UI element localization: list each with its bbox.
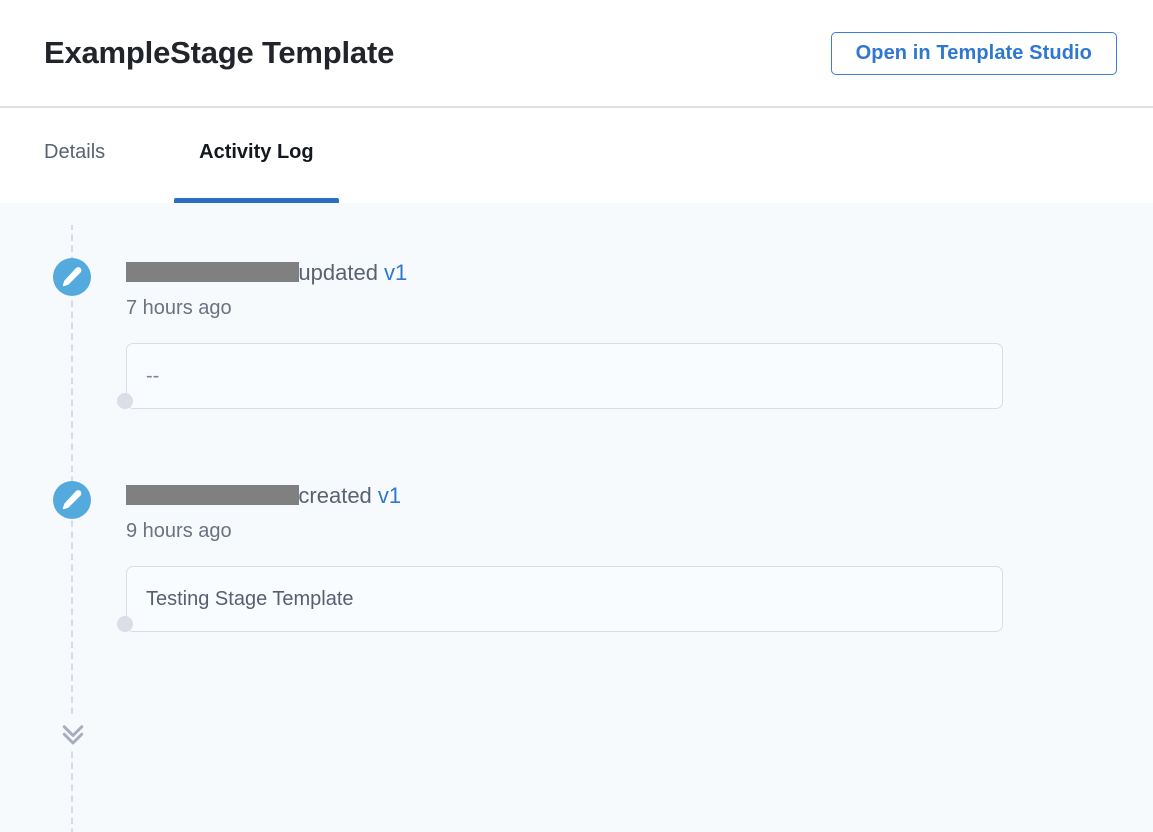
tab-details[interactable]: Details: [44, 108, 130, 203]
activity-entry-line: Rachael Rashmii created v1: [126, 481, 401, 511]
actor-link[interactable]: Rachael Rashmi: [126, 483, 287, 508]
tab-bar: Details Activity Log: [0, 108, 1153, 203]
open-in-template-studio-label: Open in Template Studio: [856, 42, 1092, 65]
pencil-edit-icon: [53, 258, 91, 296]
activity-entry: Rachael Rashmii created v1 9 hours ago T…: [53, 481, 1153, 642]
activity-comment-wrap: --: [126, 343, 1153, 419]
timeline-node-dot: [117, 393, 133, 409]
open-in-template-studio-button[interactable]: Open in Template Studio: [831, 32, 1117, 75]
activity-log-panel: Rachael Rashmii updated v1 7 hours ago -…: [0, 203, 1153, 832]
activity-comment-box[interactable]: --: [126, 343, 1003, 409]
pencil-edit-icon: [53, 481, 91, 519]
version-link[interactable]: v1: [384, 260, 407, 285]
tab-activity-log[interactable]: Activity Log: [174, 108, 338, 203]
activity-entry-text: Rachael Rashmii updated v1 7 hours ago: [126, 258, 407, 321]
activity-action-text: updated: [292, 260, 384, 285]
double-chevron-down-icon[interactable]: [58, 718, 88, 748]
page-header: ExampleStage Template Open in Template S…: [0, 0, 1153, 108]
page-title: ExampleStage Template: [44, 35, 394, 71]
activity-comment-wrap: Testing Stage Template: [126, 566, 1153, 642]
activity-entry-text: Rachael Rashmii created v1 9 hours ago: [126, 481, 401, 544]
activity-entry-timestamp: 7 hours ago: [126, 295, 407, 321]
activity-comment-box[interactable]: Testing Stage Template: [126, 566, 1003, 632]
tab-details-label: Details: [44, 141, 130, 164]
activity-entry-header: Rachael Rashmii created v1 9 hours ago: [53, 481, 1153, 544]
activity-timeline: Rachael Rashmii updated v1 7 hours ago -…: [0, 258, 1153, 642]
tab-activity-log-label: Activity Log: [174, 141, 338, 164]
activity-entry: Rachael Rashmii updated v1 7 hours ago -…: [53, 258, 1153, 419]
entry-gap: [53, 419, 1153, 481]
activity-entry-header: Rachael Rashmii updated v1 7 hours ago: [53, 258, 1153, 321]
activity-entry-timestamp: 9 hours ago: [126, 518, 401, 544]
actor-link[interactable]: Rachael Rashmi: [126, 260, 287, 285]
activity-action-text: created: [292, 483, 378, 508]
activity-log-page: ExampleStage Template Open in Template S…: [0, 0, 1153, 832]
activity-entry-line: Rachael Rashmii updated v1: [126, 258, 407, 288]
version-link[interactable]: v1: [378, 483, 401, 508]
timeline-node-dot: [117, 616, 133, 632]
